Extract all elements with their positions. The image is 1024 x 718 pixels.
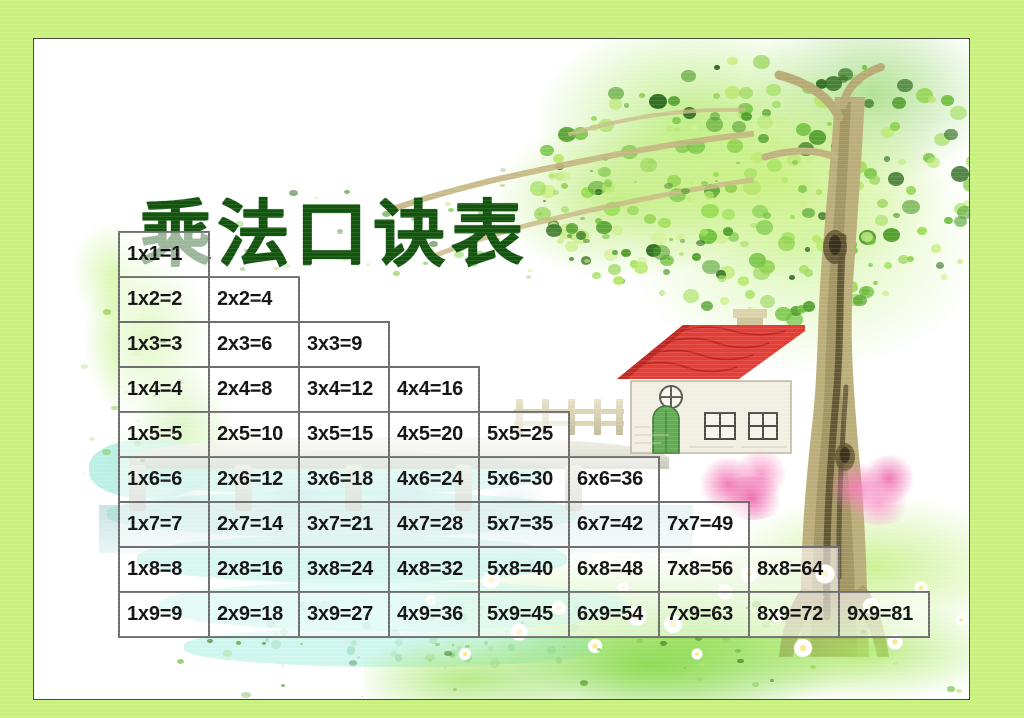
table-cell: 1x9=9	[119, 592, 209, 637]
table-cell-empty	[479, 232, 569, 277]
multiplication-table: 1x1=11x2=22x2=41x3=32x3=63x3=91x4=42x4=8…	[118, 231, 930, 638]
poster-canvas: 乘法口诀表 1x1=11x2=22x2=41x3=32x3=63x3=91x4=…	[33, 38, 970, 700]
table-cell-empty	[659, 412, 749, 457]
table-cell-empty	[839, 277, 929, 322]
table-cell: 5x9=45	[479, 592, 569, 637]
table-row: 1x9=92x9=183x9=274x9=365x9=456x9=547x9=6…	[119, 592, 929, 637]
table-cell-empty	[749, 502, 839, 547]
table-row: 1x5=52x5=103x5=154x5=205x5=25	[119, 412, 929, 457]
table-cell: 4x9=36	[389, 592, 479, 637]
table-cell: 6x8=48	[569, 547, 659, 592]
table-cell-empty	[839, 367, 929, 412]
daisy-icon	[457, 646, 472, 661]
table-cell: 7x9=63	[659, 592, 749, 637]
table-cell: 3x3=9	[299, 322, 389, 367]
table-row: 1x4=42x4=83x4=124x4=16	[119, 367, 929, 412]
table-cell: 1x5=5	[119, 412, 209, 457]
table-cell-empty	[479, 277, 569, 322]
table-row: 1x1=1	[119, 232, 929, 277]
table-cell-empty	[389, 322, 479, 367]
multiplication-table-body: 1x1=11x2=22x2=41x3=32x3=63x3=91x4=42x4=8…	[119, 232, 929, 637]
table-cell: 9x9=81	[839, 592, 929, 637]
daisy-icon	[586, 637, 604, 655]
table-cell: 7x7=49	[659, 502, 749, 547]
table-cell-empty	[749, 412, 839, 457]
table-cell: 4x5=20	[389, 412, 479, 457]
table-cell-empty	[839, 457, 929, 502]
table-cell: 1x3=3	[119, 322, 209, 367]
table-cell: 8x8=64	[749, 547, 839, 592]
daisy-icon	[792, 637, 815, 660]
table-cell-empty	[839, 232, 929, 277]
table-row: 1x8=82x8=163x8=244x8=325x8=406x8=487x8=5…	[119, 547, 929, 592]
table-cell: 5x7=35	[479, 502, 569, 547]
table-cell-empty	[749, 232, 839, 277]
table-cell-empty	[659, 232, 749, 277]
table-cell: 2x6=12	[209, 457, 299, 502]
table-cell: 1x1=1	[119, 232, 209, 277]
table-cell: 3x9=27	[299, 592, 389, 637]
table-cell: 3x5=15	[299, 412, 389, 457]
table-cell-empty	[569, 367, 659, 412]
table-cell-empty	[659, 367, 749, 412]
table-cell-empty	[569, 277, 659, 322]
table-cell: 3x4=12	[299, 367, 389, 412]
table-cell: 7x8=56	[659, 547, 749, 592]
poster-root: 乘法口诀表 1x1=11x2=22x2=41x3=32x3=63x3=91x4=…	[0, 0, 1024, 718]
table-row: 1x2=22x2=4	[119, 277, 929, 322]
table-cell: 2x4=8	[209, 367, 299, 412]
table-row: 1x7=72x7=143x7=214x7=285x7=356x7=427x7=4…	[119, 502, 929, 547]
table-row: 1x6=62x6=123x6=184x6=245x6=306x6=36	[119, 457, 929, 502]
table-row: 1x3=32x3=63x3=9	[119, 322, 929, 367]
table-cell: 4x8=32	[389, 547, 479, 592]
table-cell: 1x8=8	[119, 547, 209, 592]
table-cell: 4x6=24	[389, 457, 479, 502]
table-cell-empty	[569, 322, 659, 367]
table-cell: 1x4=4	[119, 367, 209, 412]
table-cell-empty	[659, 322, 749, 367]
table-cell-empty	[659, 277, 749, 322]
table-cell-empty	[299, 277, 389, 322]
table-cell-empty	[389, 232, 479, 277]
table-cell: 2x3=6	[209, 322, 299, 367]
table-cell-empty	[569, 412, 659, 457]
table-cell: 6x7=42	[569, 502, 659, 547]
table-cell: 3x6=18	[299, 457, 389, 502]
table-cell-empty	[749, 322, 839, 367]
table-cell: 3x8=24	[299, 547, 389, 592]
table-cell-empty	[299, 232, 389, 277]
table-cell-empty	[839, 547, 929, 592]
table-cell: 1x7=7	[119, 502, 209, 547]
table-cell-empty	[569, 232, 659, 277]
table-cell-empty	[839, 322, 929, 367]
table-cell: 3x7=21	[299, 502, 389, 547]
table-cell: 2x5=10	[209, 412, 299, 457]
table-cell-empty	[749, 277, 839, 322]
table-cell: 1x2=2	[119, 277, 209, 322]
table-cell: 2x8=16	[209, 547, 299, 592]
table-cell: 1x6=6	[119, 457, 209, 502]
table-cell-empty	[659, 457, 749, 502]
table-cell: 5x6=30	[479, 457, 569, 502]
table-cell: 2x9=18	[209, 592, 299, 637]
table-cell-empty	[209, 232, 299, 277]
table-cell: 4x7=28	[389, 502, 479, 547]
table-cell-empty	[749, 457, 839, 502]
table-cell: 5x8=40	[479, 547, 569, 592]
table-cell: 5x5=25	[479, 412, 569, 457]
table-cell: 6x6=36	[569, 457, 659, 502]
table-cell: 2x7=14	[209, 502, 299, 547]
table-cell-empty	[389, 277, 479, 322]
table-cell: 8x9=72	[749, 592, 839, 637]
table-cell-empty	[839, 412, 929, 457]
daisy-icon	[955, 614, 968, 627]
table-cell: 2x2=4	[209, 277, 299, 322]
daisy-icon	[690, 647, 704, 661]
table-cell-empty	[839, 502, 929, 547]
table-cell: 6x9=54	[569, 592, 659, 637]
table-cell-empty	[479, 322, 569, 367]
table-cell-empty	[479, 367, 569, 412]
table-cell: 4x4=16	[389, 367, 479, 412]
table-cell-empty	[749, 367, 839, 412]
